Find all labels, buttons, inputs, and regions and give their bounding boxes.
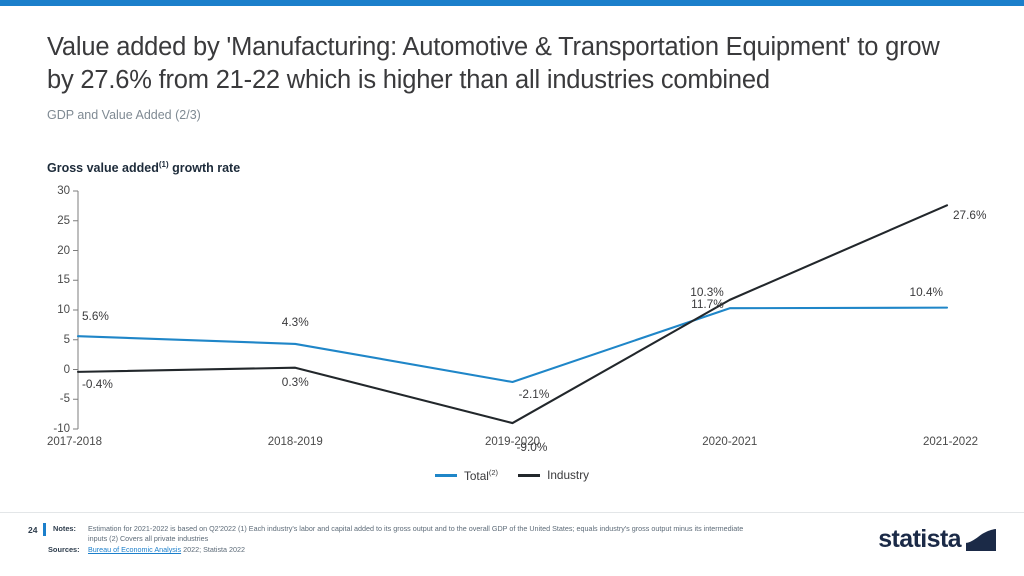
data-point-label: 0.3% xyxy=(282,375,309,389)
legend-swatch xyxy=(518,474,540,476)
top-accent-bar xyxy=(0,0,1024,6)
y-axis-tick-label: -10 xyxy=(36,423,70,435)
chart-heading-tail: growth rate xyxy=(169,161,241,175)
data-point-label: 27.6% xyxy=(953,208,986,222)
legend-swatch xyxy=(435,474,457,476)
legend-item-industry[interactable]: Industry xyxy=(518,468,589,482)
data-point-label: 5.6% xyxy=(82,309,109,323)
x-axis-tick-label: 2017-2018 xyxy=(47,436,102,448)
slide-root: Value added by 'Manufacturing: Automotiv… xyxy=(0,0,1024,576)
statista-wordmark: statista xyxy=(878,527,961,552)
y-axis-tick-label: 20 xyxy=(36,245,70,257)
data-point-label: -9.0% xyxy=(517,440,548,454)
legend-label: Industry xyxy=(547,468,589,482)
chart-legend: Total(2)Industry xyxy=(0,468,1024,483)
page-title: Value added by 'Manufacturing: Automotiv… xyxy=(47,31,967,97)
sources-label: Sources: xyxy=(48,545,80,554)
data-point-label: 10.4% xyxy=(910,285,943,299)
y-axis-tick-label: 30 xyxy=(36,185,70,197)
page-number: 24 xyxy=(28,525,37,535)
y-axis-tick-label: 25 xyxy=(36,215,70,227)
data-point-label: -2.1% xyxy=(519,387,550,401)
sources-rest: 2022; Statista 2022 xyxy=(181,545,245,554)
legend-item-total[interactable]: Total(2) xyxy=(435,468,498,483)
data-point-label: 11.7% xyxy=(691,297,724,311)
legend-label: Total(2) xyxy=(464,468,498,483)
y-axis-tick-label: -5 xyxy=(36,393,70,405)
x-axis-tick-label: 2020-2021 xyxy=(702,436,757,448)
page-number-rule xyxy=(43,523,46,536)
page-subtitle: GDP and Value Added (2/3) xyxy=(47,108,201,122)
chart-heading-main: Gross value added xyxy=(47,161,159,175)
legend-label-superscript: (2) xyxy=(489,468,498,477)
series-line xyxy=(78,308,947,382)
notes-label: Notes: xyxy=(53,524,76,533)
y-axis-tick-label: 15 xyxy=(36,274,70,286)
notes-text: Estimation for 2021-2022 is based on Q2'… xyxy=(88,524,748,543)
statista-logo-icon xyxy=(966,529,996,551)
x-axis-tick-label: 2021-2022 xyxy=(923,436,978,448)
sources-link[interactable]: Bureau of Economic Analysis xyxy=(88,545,181,554)
chart-heading-superscript: (1) xyxy=(159,160,169,169)
y-axis-tick-label: 0 xyxy=(36,364,70,376)
data-point-label: -0.4% xyxy=(82,377,113,391)
x-axis-tick-label: 2018-2019 xyxy=(268,436,323,448)
series-line xyxy=(78,205,947,423)
y-axis-tick-label: 5 xyxy=(36,334,70,346)
y-axis-tick-label: 10 xyxy=(36,304,70,316)
data-point-label: 4.3% xyxy=(282,315,309,329)
chart-heading: Gross value added(1) growth rate xyxy=(47,160,240,175)
slide-footer: 24 Notes: Estimation for 2021-2022 is ba… xyxy=(0,512,1024,576)
sources-text: Bureau of Economic Analysis 2022; Statis… xyxy=(88,545,748,555)
statista-logo: statista xyxy=(878,527,996,552)
